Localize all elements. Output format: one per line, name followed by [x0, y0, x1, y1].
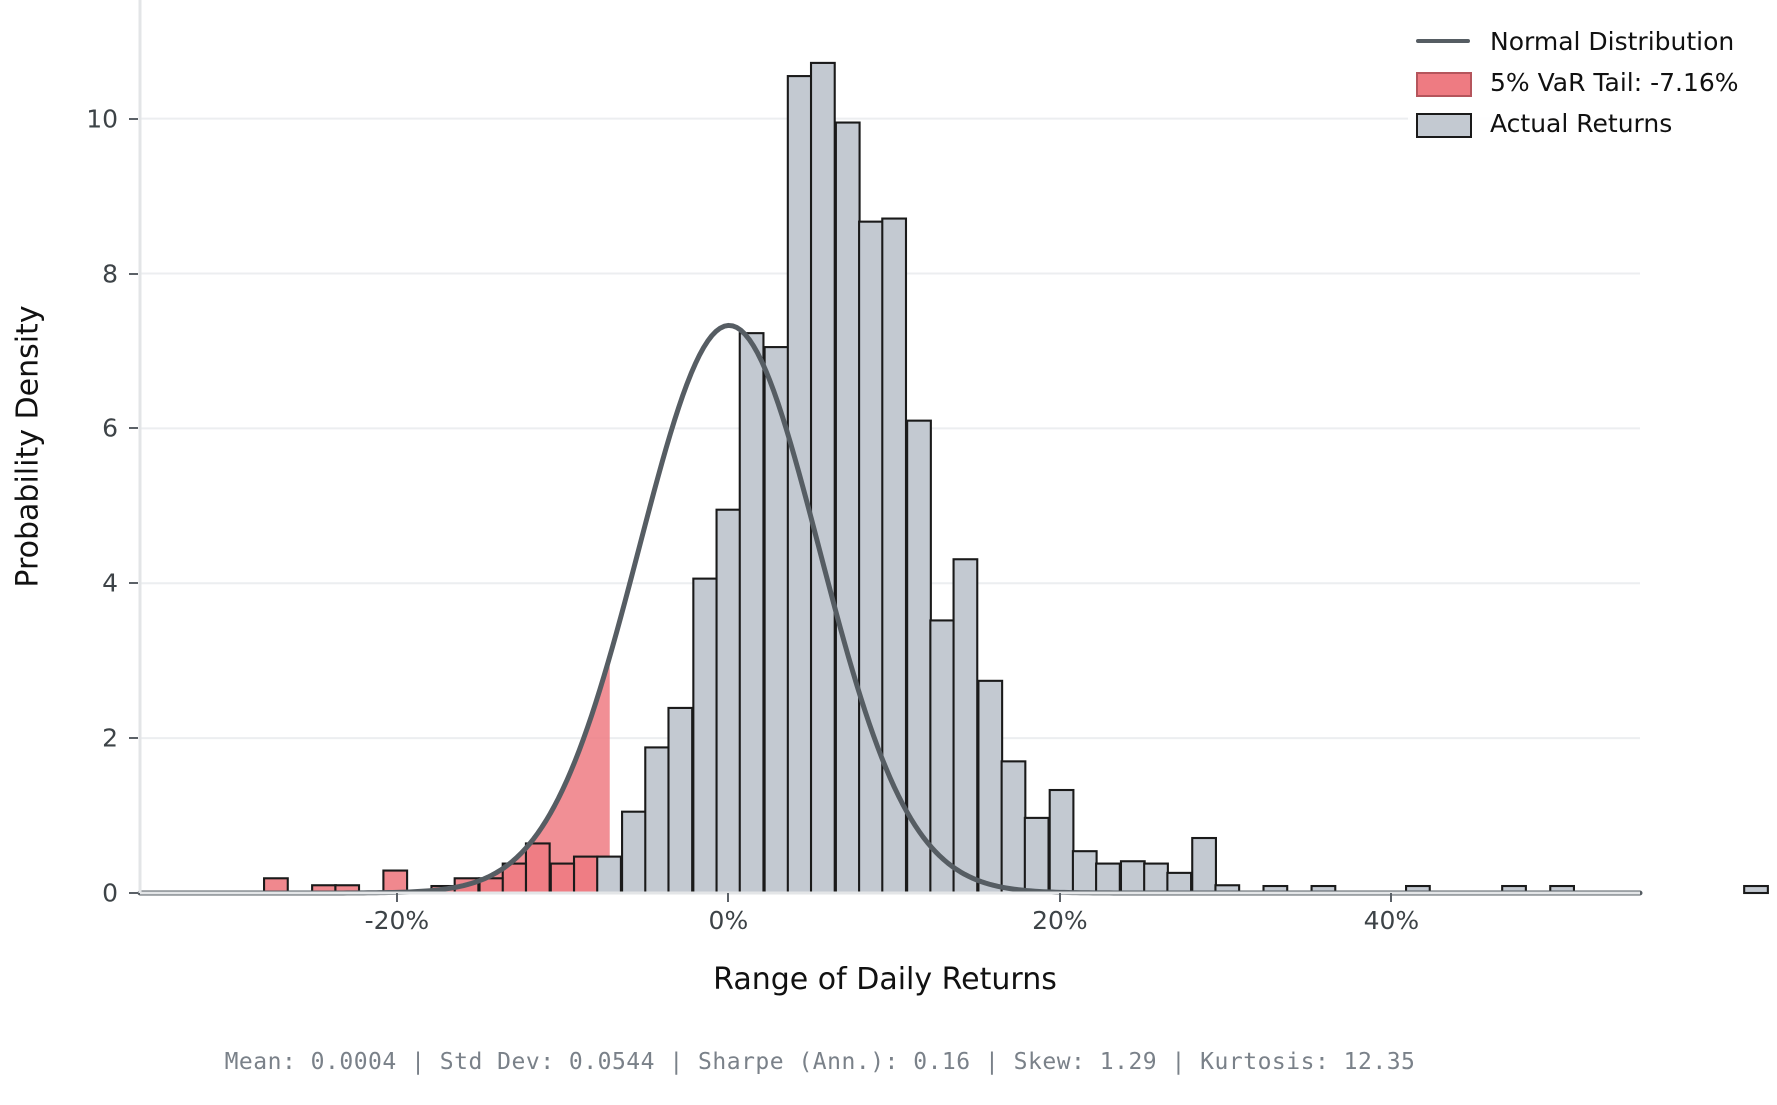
histogram-bar: [668, 708, 692, 893]
y-tick-label: 0: [18, 879, 118, 908]
histogram-bar: [645, 747, 669, 893]
x-tick-label: 20%: [980, 906, 1140, 935]
legend-label: Actual Returns: [1490, 109, 1672, 138]
x-tick-mark: [727, 893, 729, 902]
histogram-bar: [859, 222, 883, 893]
histogram-bar: [978, 681, 1002, 893]
histogram-bar: [1025, 818, 1049, 893]
histogram-bar: [622, 812, 646, 893]
y-tick-label: 2: [18, 724, 118, 753]
histogram-bar: [1167, 873, 1191, 893]
y-tick-mark: [129, 118, 138, 120]
legend-swatch: [1412, 70, 1474, 94]
legend-swatch: [1412, 111, 1474, 135]
legend-item[interactable]: Actual Returns: [1412, 108, 1762, 138]
y-tick-mark: [129, 737, 138, 739]
histogram-bar: [1050, 790, 1074, 893]
histogram-bar: [1192, 838, 1216, 893]
x-tick-label: 40%: [1311, 906, 1471, 935]
legend-item[interactable]: Normal Distribution: [1412, 26, 1762, 56]
y-tick-mark: [129, 273, 138, 275]
legend-item[interactable]: 5% VaR Tail: -7.16%: [1412, 67, 1762, 97]
histogram-bar: [1121, 861, 1145, 893]
histogram-bar: [693, 579, 717, 893]
y-tick-label: 10: [18, 104, 118, 133]
x-tick-mark: [396, 893, 398, 902]
histogram-bar: [1144, 864, 1168, 893]
histogram-figure: Probability Density Range of Daily Retur…: [0, 0, 1777, 1105]
x-axis-title: Range of Daily Returns: [140, 962, 1630, 997]
legend-patch-swatch: [1416, 113, 1472, 138]
histogram-bar: [526, 843, 550, 893]
histogram-bar: [383, 871, 407, 893]
legend-patch-swatch: [1416, 72, 1472, 97]
plot-canvas: [0, 0, 1777, 1105]
chart-legend[interactable]: Normal Distribution5% VaR Tail: -7.16%Ac…: [1408, 20, 1766, 144]
legend-label: Normal Distribution: [1490, 27, 1734, 56]
histogram-bar: [811, 63, 835, 893]
histogram-bar: [836, 123, 860, 893]
histogram-bar: [1002, 761, 1026, 893]
x-tick-label: -20%: [317, 906, 477, 935]
x-tick-mark: [1390, 893, 1392, 902]
legend-swatch: [1412, 29, 1474, 53]
y-tick-label: 4: [18, 569, 118, 598]
x-tick-mark: [1059, 893, 1061, 902]
histogram-bar: [1744, 886, 1768, 893]
histogram-bar: [597, 857, 621, 893]
histogram-bar: [740, 333, 764, 893]
histogram-bar: [1073, 851, 1097, 893]
histogram-bar: [1096, 864, 1120, 893]
y-tick-label: 8: [18, 259, 118, 288]
histogram-bar: [574, 857, 598, 893]
y-axis-title-text: Probability Density: [11, 305, 46, 587]
y-tick-mark: [129, 892, 138, 894]
histogram-bar: [551, 864, 575, 893]
y-tick-label: 6: [18, 414, 118, 443]
histogram-bars: [264, 63, 1768, 893]
histogram-bar: [954, 559, 978, 893]
histogram-bar: [717, 510, 741, 893]
summary-stats-line: Mean: 0.0004 | Std Dev: 0.0544 | Sharpe …: [0, 1049, 1640, 1075]
legend-label: 5% VaR Tail: -7.16%: [1490, 68, 1739, 97]
y-axis-title: Probability Density: [0, 0, 56, 893]
legend-line-swatch: [1416, 39, 1470, 43]
y-tick-mark: [129, 427, 138, 429]
x-tick-label: 0%: [648, 906, 808, 935]
y-tick-mark: [129, 582, 138, 584]
